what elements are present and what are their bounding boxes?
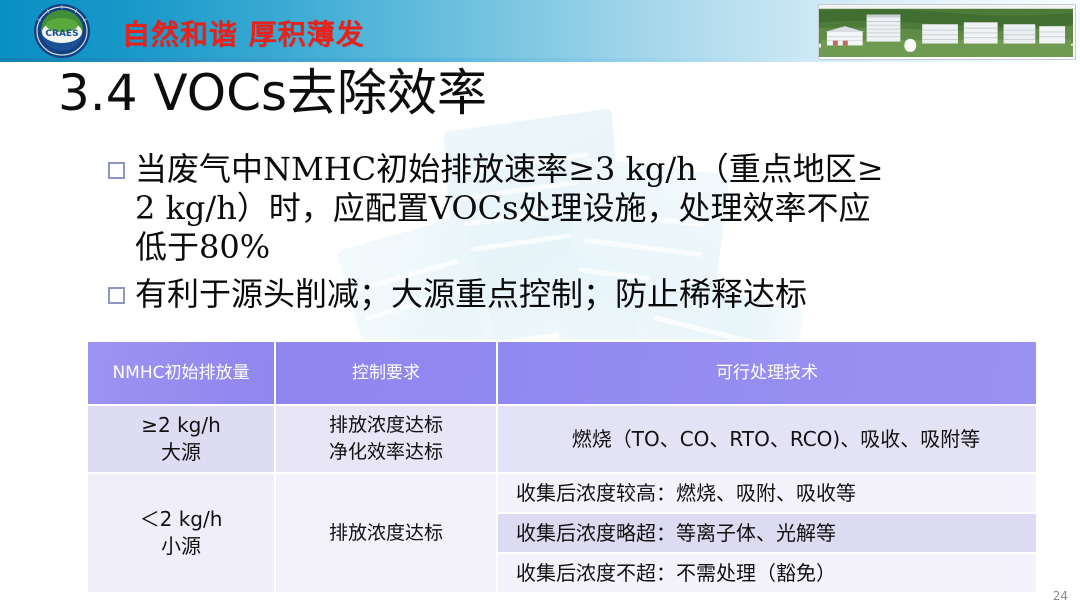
bullet-line: 低于80% xyxy=(135,228,884,267)
emission-value: ≥2 kg/h xyxy=(88,412,274,439)
list-item: 收集后浓度不超：不需处理（豁免） xyxy=(498,553,1036,592)
emission-label: 小源 xyxy=(88,533,274,560)
sub-technology-table: 收集后浓度较高：燃烧、吸附、吸收等 收集后浓度略超：等离子体、光解等 收集后浓度… xyxy=(498,474,1036,592)
emission-label: 大源 xyxy=(88,439,274,466)
list-item: 当废气中NMHC初始排放速率≥3 kg/h（重点地区≥ 2 kg/h）时，应配置… xyxy=(108,150,1023,267)
bullet-line: 2 kg/h）时，应配置VOCs处理设施，处理效率不应 xyxy=(135,189,884,228)
bullet-line: 有利于源头削减；大源重点控制；防止稀释达标 xyxy=(135,275,807,314)
cell-technology-large: 燃烧（TO、CO、RTO、RCO)、吸收、吸附等 xyxy=(497,405,1037,473)
craes-logo-icon: CRAES xyxy=(33,3,91,59)
hollow-square-icon xyxy=(108,287,125,304)
table-row: ＜2 kg/h 小源 排放浓度达标 收集后浓度较高：燃烧、吸附、吸收等 收集后浓… xyxy=(87,473,1037,593)
sub-technology-high: 收集后浓度较高：燃烧、吸附、吸收等 xyxy=(498,474,1036,513)
page-title: 3.4 VOCs去除效率 xyxy=(58,63,487,123)
hollow-square-icon xyxy=(108,162,125,179)
bullet-list: 当废气中NMHC初始排放速率≥3 kg/h（重点地区≥ 2 kg/h）时，应配置… xyxy=(108,150,1023,322)
sub-technology-slight: 收集后浓度略超：等离子体、光解等 xyxy=(498,513,1036,553)
bullet-text: 有利于源头削减；大源重点控制；防止稀释达标 xyxy=(135,275,807,314)
cell-requirement-small: 排放浓度达标 xyxy=(275,473,497,593)
vocs-technology-table: NMHC初始排放量 控制要求 可行处理技术 ≥2 kg/h 大源 排放浓度达标 … xyxy=(86,340,1038,594)
page-number: 24 xyxy=(1053,589,1068,603)
slide-canvas: CRAES 自然和谐 厚积薄发 xyxy=(0,0,1080,607)
column-header-emission: NMHC初始排放量 xyxy=(87,341,275,405)
list-item: 收集后浓度较高：燃烧、吸附、吸收等 xyxy=(498,474,1036,513)
cell-emission-small: ＜2 kg/h 小源 xyxy=(87,473,275,593)
column-header-technology: 可行处理技术 xyxy=(497,341,1037,405)
emission-value: ＜2 kg/h xyxy=(88,506,274,533)
cell-requirement-large: 排放浓度达标 净化效率达标 xyxy=(275,405,497,473)
sub-technology-none: 收集后浓度不超：不需处理（豁免） xyxy=(498,553,1036,592)
list-item: 收集后浓度略超：等离子体、光解等 xyxy=(498,513,1036,553)
banner-slogan: 自然和谐 厚积薄发 xyxy=(122,13,365,53)
campus-photo xyxy=(818,4,1076,60)
requirement-line: 排放浓度达标 xyxy=(276,412,496,439)
cell-emission-large: ≥2 kg/h 大源 xyxy=(87,405,275,473)
column-header-requirement: 控制要求 xyxy=(275,341,497,405)
bullet-line: 当废气中NMHC初始排放速率≥3 kg/h（重点地区≥ xyxy=(135,150,884,189)
bullet-text: 当废气中NMHC初始排放速率≥3 kg/h（重点地区≥ 2 kg/h）时，应配置… xyxy=(135,150,884,267)
table-row: ≥2 kg/h 大源 排放浓度达标 净化效率达标 燃烧（TO、CO、RTO、RC… xyxy=(87,405,1037,473)
logo-wordmark: CRAES xyxy=(45,29,78,39)
list-item: 有利于源头削减；大源重点控制；防止稀释达标 xyxy=(108,275,1023,314)
requirement-line: 净化效率达标 xyxy=(276,439,496,466)
table-header-row: NMHC初始排放量 控制要求 可行处理技术 xyxy=(87,341,1037,405)
cell-technology-small: 收集后浓度较高：燃烧、吸附、吸收等 收集后浓度略超：等离子体、光解等 收集后浓度… xyxy=(497,473,1037,593)
